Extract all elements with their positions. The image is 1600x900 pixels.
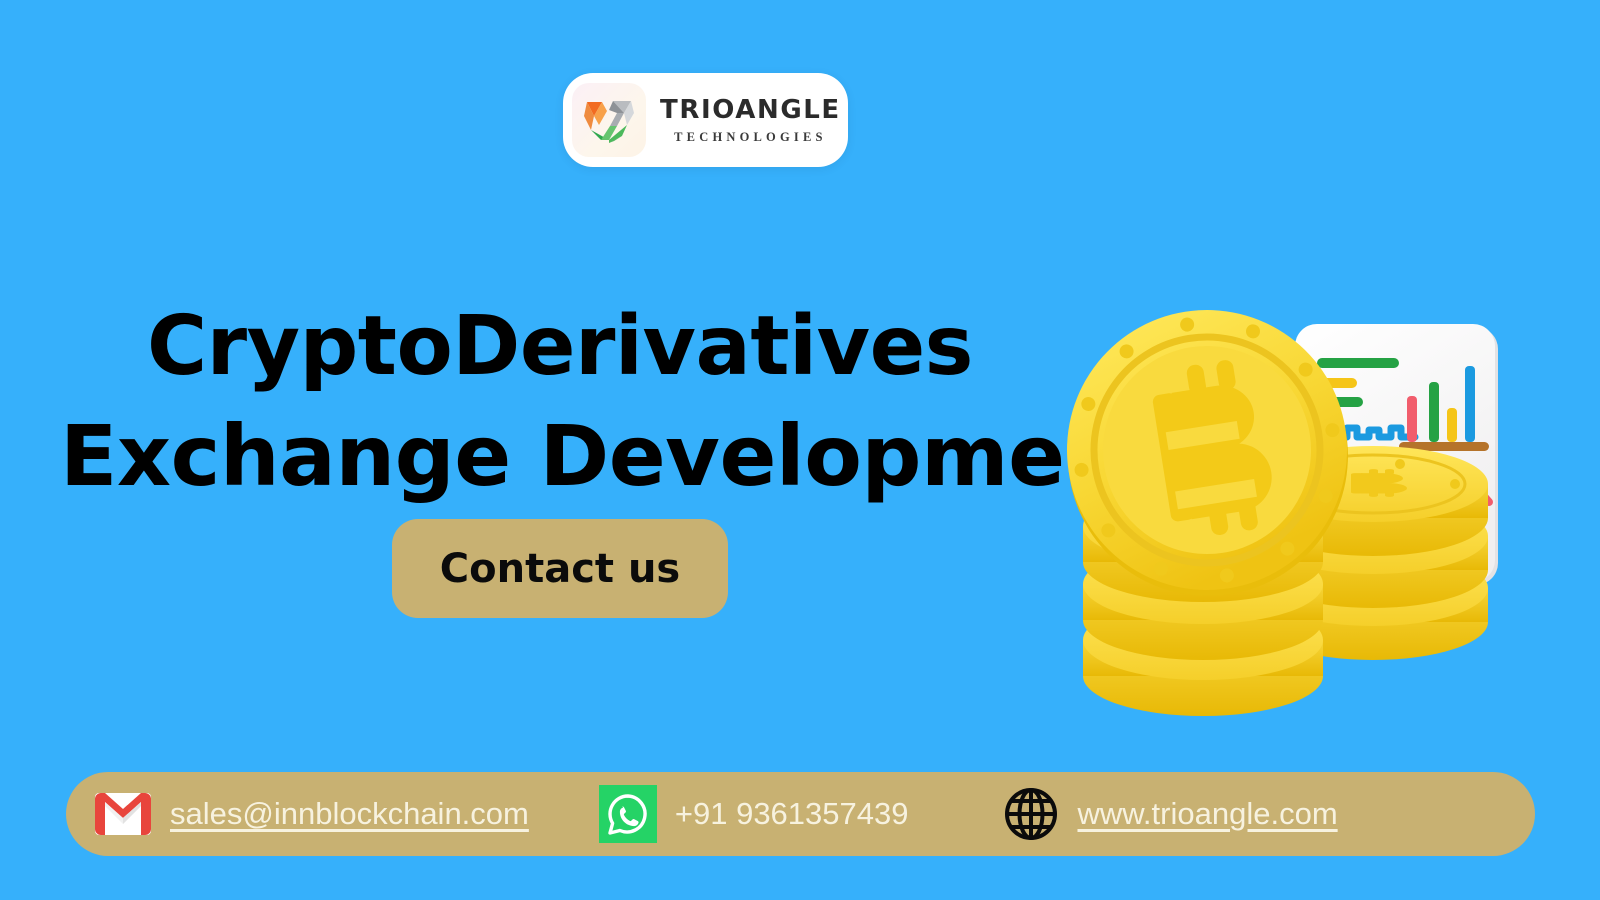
globe-icon [1003, 786, 1059, 842]
contact-phone[interactable]: +91 9361357439 [599, 772, 909, 856]
gmail-icon [94, 792, 152, 836]
bitcoin-coins-chart-illustration [1055, 300, 1525, 720]
promo-banner: TRIOANGLE TECHNOLOGIES CryptoDerivatives… [0, 0, 1600, 900]
brand-name: TRIOANGLE [660, 97, 841, 123]
contact-email-label[interactable]: sales@innblockchain.com [170, 796, 529, 832]
trioangle-triangle-icon [572, 83, 646, 157]
contact-website[interactable]: www.trioangle.com [1003, 772, 1337, 856]
headline-line-1: CryptoDerivatives [60, 293, 1060, 401]
headline-line-2: Exchange Development [60, 401, 1060, 512]
contact-phone-label[interactable]: +91 9361357439 [675, 796, 909, 832]
whatsapp-icon [599, 785, 657, 843]
page-title: CryptoDerivatives Exchange Development [60, 293, 1060, 512]
brand-wordmark: TRIOANGLE TECHNOLOGIES [660, 97, 841, 144]
contact-us-button[interactable]: Contact us [392, 519, 728, 618]
brand-tagline: TECHNOLOGIES [674, 131, 827, 144]
contact-bar: sales@innblockchain.com +91 9361357439 [66, 772, 1535, 856]
contact-email[interactable]: sales@innblockchain.com [94, 772, 529, 856]
contact-website-label[interactable]: www.trioangle.com [1077, 796, 1337, 832]
brand-logo-pill[interactable]: TRIOANGLE TECHNOLOGIES [563, 73, 848, 167]
